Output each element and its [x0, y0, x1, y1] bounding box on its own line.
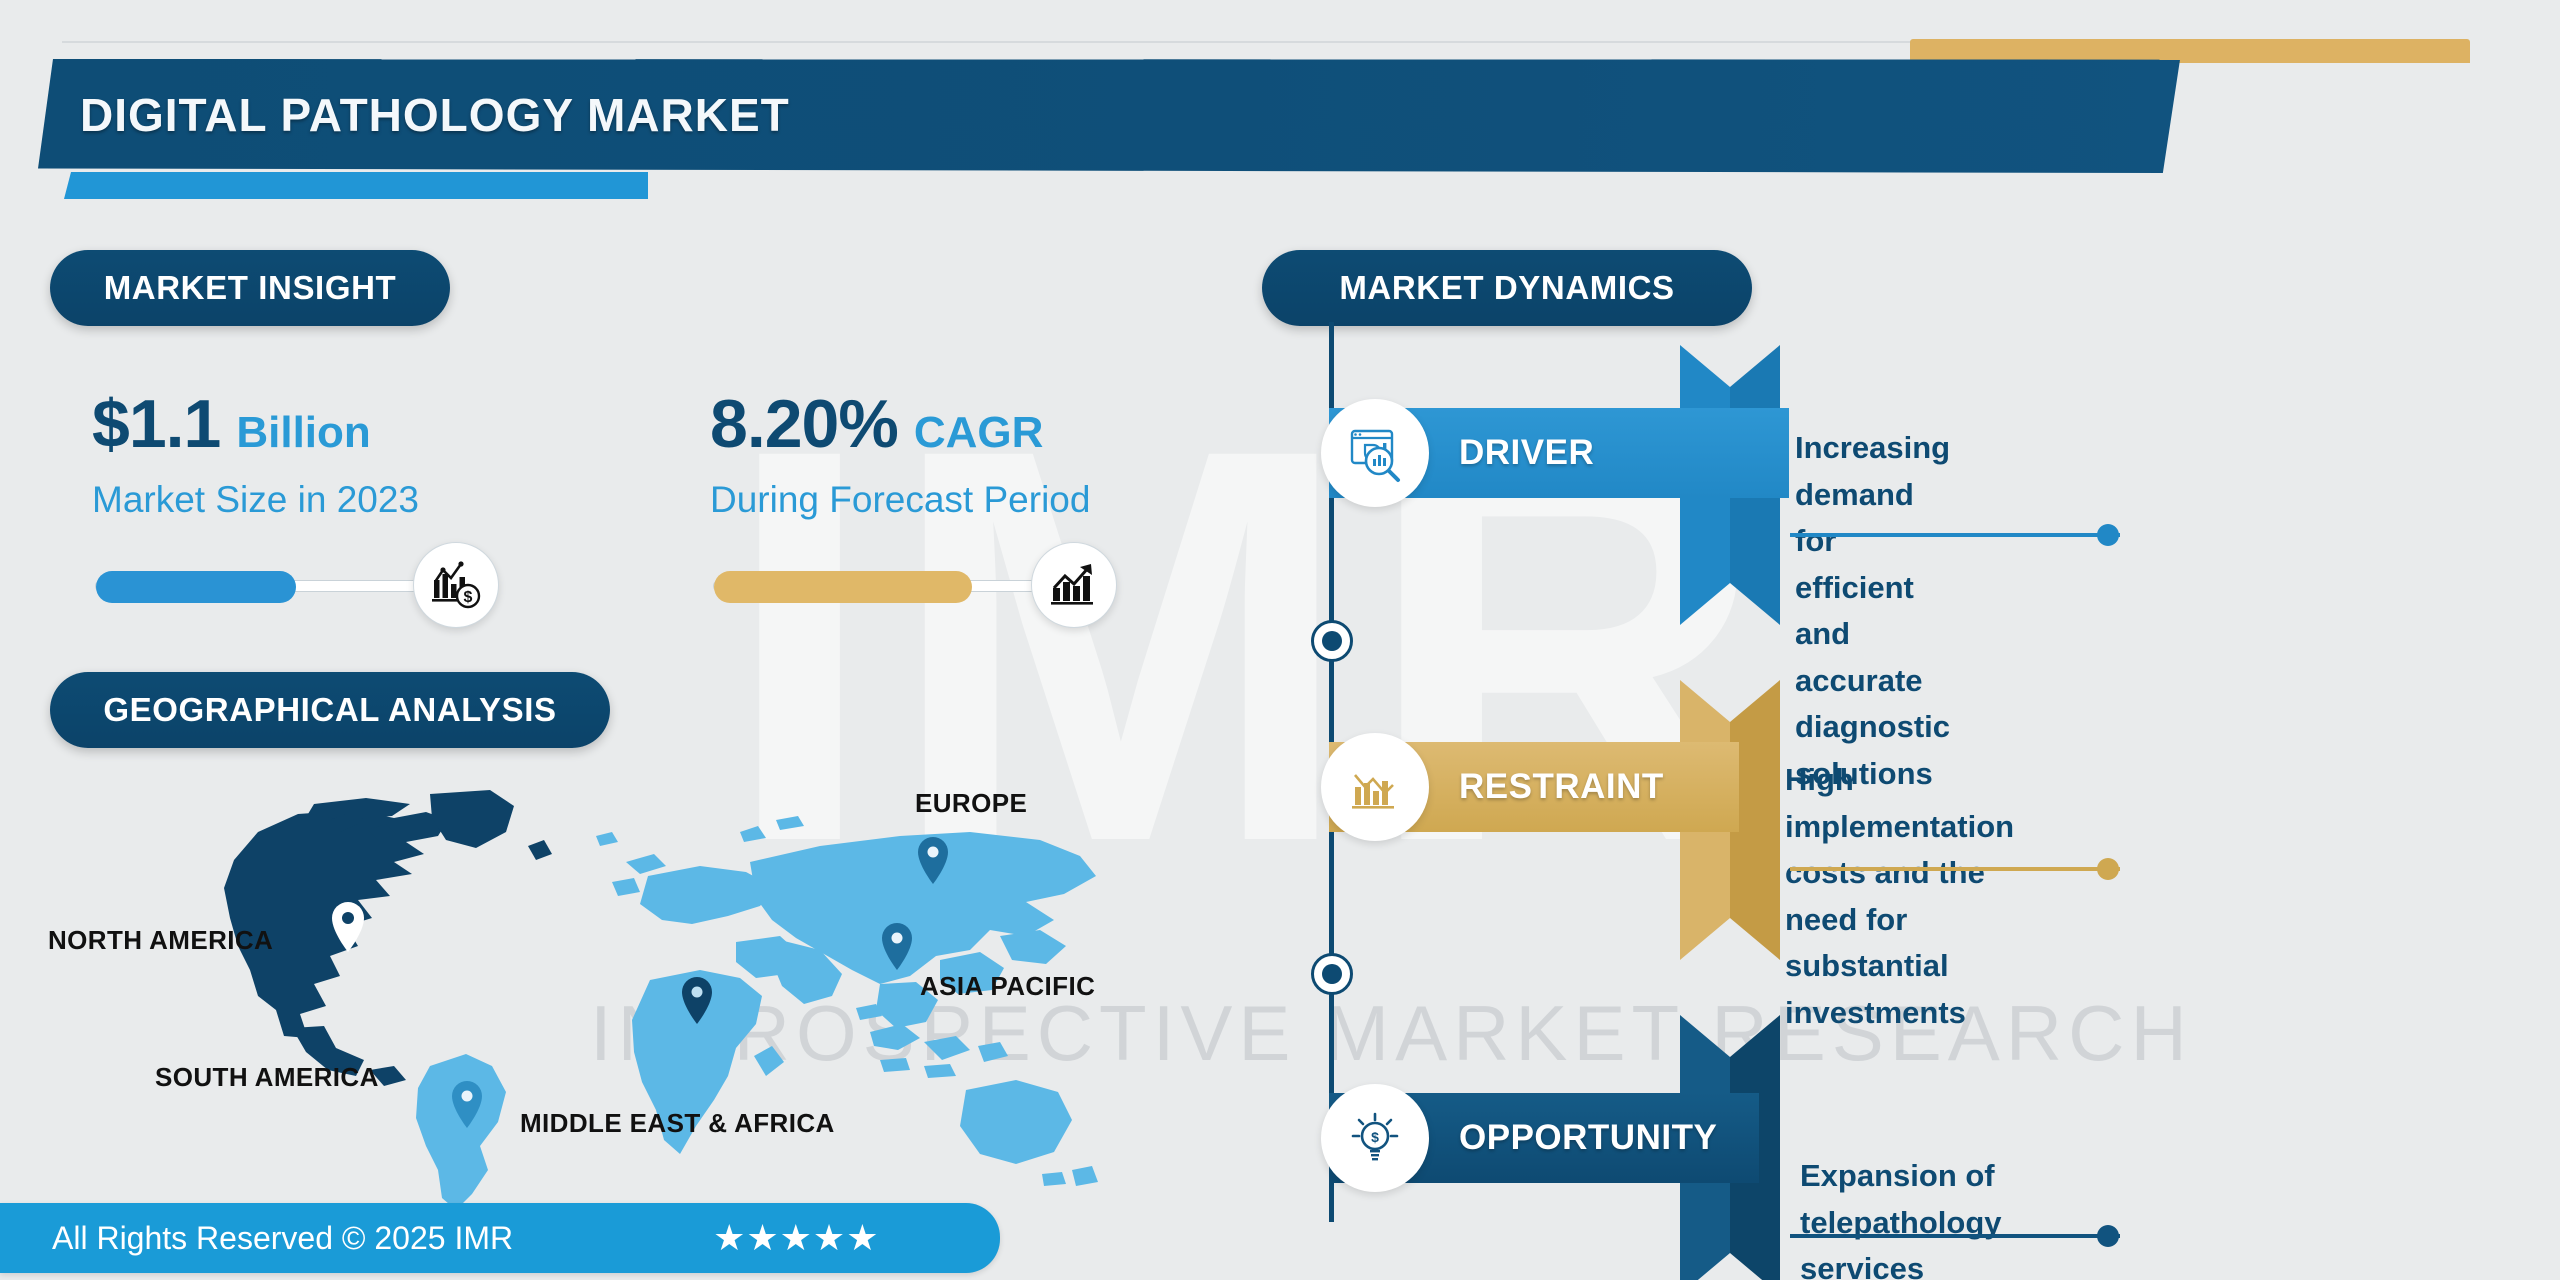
progress-track-market-size [95, 580, 425, 592]
driver-connector-line [1790, 533, 2120, 537]
header-underbar-accent [64, 172, 648, 199]
footer-star-rating: ★★★★★ [713, 1217, 879, 1259]
driver-text: Increasing demand for efficient and accu… [1795, 425, 1950, 797]
section-pill-label: MARKET DYNAMICS [1339, 269, 1674, 307]
svg-text:$: $ [1371, 1129, 1379, 1145]
stat-unit: Billion [236, 408, 370, 458]
opportunity-connector-dot [2097, 1225, 2119, 1247]
progress-fill-cagr [714, 571, 972, 603]
lightbulb-dollar-icon: $ [1321, 1084, 1429, 1192]
page-title: DIGITAL PATHOLOGY MARKET [80, 88, 790, 142]
dashboard-magnifier-icon [1321, 399, 1429, 507]
growth-chart-arrow-icon [1031, 542, 1117, 628]
section-pill-geographical-analysis: GEOGRAPHICAL ANALYSIS [50, 672, 610, 748]
opportunity-bar: $ OPPORTUNITY [1329, 1093, 1759, 1183]
timeline-node-1 [1311, 620, 1353, 662]
map-label-europe: EUROPE [915, 788, 1027, 819]
section-pill-label: GEOGRAPHICAL ANALYSIS [103, 691, 556, 729]
opportunity-text: Expansion of telepathology services [1800, 1153, 2002, 1280]
section-pill-market-dynamics: MARKET DYNAMICS [1262, 250, 1752, 326]
bar-chart-decline-icon [1321, 733, 1429, 841]
restraint-label: RESTRAINT [1459, 742, 1664, 832]
header-gold-accent [1910, 39, 2470, 63]
progress-fill-market-size [96, 571, 296, 603]
svg-text:$: $ [464, 589, 473, 606]
stat-caption: Market Size in 2023 [92, 479, 419, 521]
progress-track-cagr [713, 580, 1043, 592]
opportunity-connector-line [1790, 1234, 2120, 1238]
footer-copyright: All Rights Reserved © 2025 IMR [52, 1220, 513, 1257]
header-hairline [62, 41, 2102, 43]
map-label-asia-pacific: ASIA PACIFIC [920, 971, 1095, 1002]
stat-value: 8.20% [710, 385, 898, 463]
stat-value: $1.1 [92, 385, 220, 463]
bar-chart-dollar-icon: $ [413, 542, 499, 628]
section-pill-label: MARKET INSIGHT [104, 269, 397, 307]
restraint-text: High implementation costs and the need f… [1785, 757, 2014, 1036]
map-continents [224, 790, 1098, 1228]
restraint-bar: RESTRAINT [1329, 742, 1739, 832]
timeline-node-2 [1311, 953, 1353, 995]
infographic-canvas: IMR INTROSPECTIVE MARKET RESEARCH DIGITA… [0, 0, 2560, 1280]
map-label-south-america: SOUTH AMERICA [155, 1062, 379, 1093]
stat-headline: 8.20% CAGR [710, 385, 1090, 463]
section-pill-market-insight: MARKET INSIGHT [50, 250, 450, 326]
driver-connector-dot [2097, 524, 2119, 546]
restraint-connector-dot [2097, 858, 2119, 880]
stat-market-size: $1.1 Billion Market Size in 2023 [92, 385, 419, 521]
stat-headline: $1.1 Billion [92, 385, 419, 463]
driver-label: DRIVER [1459, 408, 1594, 498]
footer-bar: All Rights Reserved © 2025 IMR ★★★★★ [0, 1203, 1000, 1273]
stat-unit: CAGR [914, 408, 1044, 458]
driver-bar: DRIVER [1329, 408, 1789, 498]
map-label-north-america: NORTH AMERICA [48, 925, 273, 956]
restraint-connector-line [1790, 867, 2120, 871]
opportunity-label: OPPORTUNITY [1459, 1093, 1717, 1183]
stat-cagr: 8.20% CAGR During Forecast Period [710, 385, 1090, 521]
map-label-middle-east-africa: MIDDLE EAST & AFRICA [520, 1108, 835, 1139]
stat-caption: During Forecast Period [710, 479, 1090, 521]
